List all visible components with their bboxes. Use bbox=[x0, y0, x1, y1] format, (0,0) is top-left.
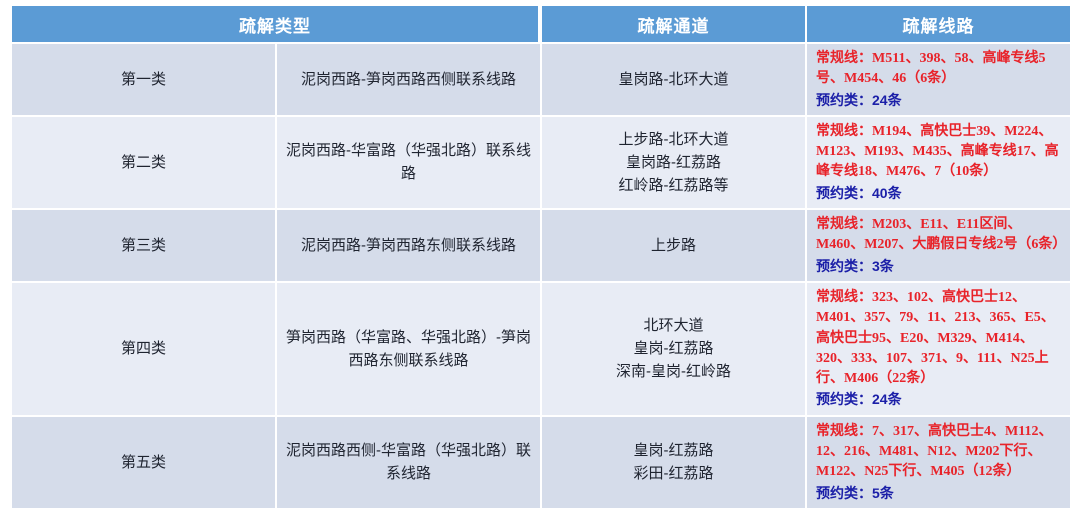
cell-category: 第二类 bbox=[12, 117, 275, 208]
cell-description: 泥岗西路-笋岗西路西侧联系线路 bbox=[277, 44, 540, 115]
booking-routes-value: 40条 bbox=[872, 185, 902, 201]
regular-routes-label: 常规线： bbox=[816, 424, 872, 439]
booking-routes-value: 3条 bbox=[872, 258, 894, 274]
channel-line: 皇岗-红荔路 bbox=[548, 337, 799, 360]
booking-routes-label: 预约类： bbox=[816, 92, 872, 108]
regular-routes-text: 常规线：323、102、高快巴士12、M401、357、79、11、213、36… bbox=[816, 288, 1064, 389]
header-relief-channel: 疏解通道 bbox=[542, 6, 805, 42]
cell-category: 第三类 bbox=[12, 210, 275, 281]
table-row: 第一类 泥岗西路-笋岗西路西侧联系线路 皇岗路-北环大道 常规线：M511、39… bbox=[12, 44, 1070, 115]
cell-category: 第四类 bbox=[12, 283, 275, 415]
cell-description: 泥岗西路-笋岗西路东侧联系线路 bbox=[277, 210, 540, 281]
header-relief-routes: 疏解线路 bbox=[807, 6, 1070, 42]
booking-routes-value: 24条 bbox=[872, 92, 902, 108]
channel-line: 深南-皇岗-红岭路 bbox=[548, 360, 799, 383]
relief-routes-table: 疏解类型 疏解通道 疏解线路 第一类 泥岗西路-笋岗西路西侧联系线路 皇岗路-北… bbox=[10, 4, 1072, 510]
cell-routes: 常规线：323、102、高快巴士12、M401、357、79、11、213、36… bbox=[807, 283, 1070, 415]
booking-routes-label: 预约类： bbox=[816, 391, 872, 407]
cell-channel: 皇岗路-北环大道 bbox=[542, 44, 805, 115]
cell-channel: 上步路-北环大道 皇岗路-红荔路 红岭路-红荔路等 bbox=[542, 117, 805, 208]
channel-line: 彩田-红荔路 bbox=[548, 462, 799, 485]
cell-routes: 常规线：M194、高快巴士39、M224、M123、M193、M435、高峰专线… bbox=[807, 117, 1070, 208]
booking-routes-value: 5条 bbox=[872, 485, 894, 501]
table-row: 第五类 泥岗西路西侧-华富路（华强北路）联系线路 皇岗-红荔路 彩田-红荔路 常… bbox=[12, 417, 1070, 508]
regular-routes-label: 常规线： bbox=[816, 217, 872, 232]
channel-line: 皇岗路-红荔路 bbox=[548, 151, 799, 174]
cell-channel: 上步路 bbox=[542, 210, 805, 281]
cell-channel: 皇岗-红荔路 彩田-红荔路 bbox=[542, 417, 805, 508]
booking-routes-text: 预约类：24条 bbox=[816, 389, 1064, 409]
channel-line: 皇岗-红荔路 bbox=[548, 439, 799, 462]
channel-line: 上步路 bbox=[548, 234, 799, 257]
booking-routes-text: 预约类：40条 bbox=[816, 183, 1064, 203]
regular-routes-label: 常规线： bbox=[816, 290, 872, 305]
table-body: 第一类 泥岗西路-笋岗西路西侧联系线路 皇岗路-北环大道 常规线：M511、39… bbox=[12, 44, 1070, 508]
table-row: 第四类 笋岗西路（华富路、华强北路）-笋岗西路东侧联系线路 北环大道 皇岗-红荔… bbox=[12, 283, 1070, 415]
cell-description: 泥岗西路西侧-华富路（华强北路）联系线路 bbox=[277, 417, 540, 508]
table-row: 第三类 泥岗西路-笋岗西路东侧联系线路 上步路 常规线：M203、E11、E11… bbox=[12, 210, 1070, 281]
header-relief-type: 疏解类型 bbox=[12, 6, 540, 42]
cell-routes: 常规线：M203、E11、E11区间、M460、M207、大鹏假日专线2号（6条… bbox=[807, 210, 1070, 281]
cell-category: 第五类 bbox=[12, 417, 275, 508]
cell-routes: 常规线：7、317、高快巴士4、M112、12、216、M481、N12、M20… bbox=[807, 417, 1070, 508]
cell-description: 笋岗西路（华富路、华强北路）-笋岗西路东侧联系线路 bbox=[277, 283, 540, 415]
booking-routes-text: 预约类：5条 bbox=[816, 483, 1064, 503]
channel-line: 上步路-北环大道 bbox=[548, 128, 799, 151]
table-head: 疏解类型 疏解通道 疏解线路 bbox=[12, 6, 1070, 42]
relief-routes-table-container: 疏解类型 疏解通道 疏解线路 第一类 泥岗西路-笋岗西路西侧联系线路 皇岗路-北… bbox=[0, 0, 1080, 458]
channel-line: 北环大道 bbox=[548, 314, 799, 337]
cell-description: 泥岗西路-华富路（华强北路）联系线路 bbox=[277, 117, 540, 208]
regular-routes-text: 常规线：M511、398、58、高峰专线5号、M454、46（6条） bbox=[816, 49, 1064, 90]
booking-routes-label: 预约类： bbox=[816, 258, 872, 274]
cell-channel: 北环大道 皇岗-红荔路 深南-皇岗-红岭路 bbox=[542, 283, 805, 415]
regular-routes-text: 常规线：7、317、高快巴士4、M112、12、216、M481、N12、M20… bbox=[816, 422, 1064, 483]
booking-routes-text: 预约类：24条 bbox=[816, 90, 1064, 110]
table-header-row: 疏解类型 疏解通道 疏解线路 bbox=[12, 6, 1070, 42]
booking-routes-label: 预约类： bbox=[816, 485, 872, 501]
table-row: 第二类 泥岗西路-华富路（华强北路）联系线路 上步路-北环大道 皇岗路-红荔路 … bbox=[12, 117, 1070, 208]
regular-routes-label: 常规线： bbox=[816, 124, 872, 139]
cell-routes: 常规线：M511、398、58、高峰专线5号、M454、46（6条） 预约类：2… bbox=[807, 44, 1070, 115]
regular-routes-text: 常规线：M194、高快巴士39、M224、M123、M193、M435、高峰专线… bbox=[816, 122, 1064, 183]
channel-line: 红岭路-红荔路等 bbox=[548, 174, 799, 197]
regular-routes-text: 常规线：M203、E11、E11区间、M460、M207、大鹏假日专线2号（6条… bbox=[816, 215, 1064, 256]
regular-routes-label: 常规线： bbox=[816, 51, 872, 66]
booking-routes-text: 预约类：3条 bbox=[816, 256, 1064, 276]
channel-line: 皇岗路-北环大道 bbox=[548, 68, 799, 91]
cell-category: 第一类 bbox=[12, 44, 275, 115]
booking-routes-value: 24条 bbox=[872, 391, 902, 407]
booking-routes-label: 预约类： bbox=[816, 185, 872, 201]
